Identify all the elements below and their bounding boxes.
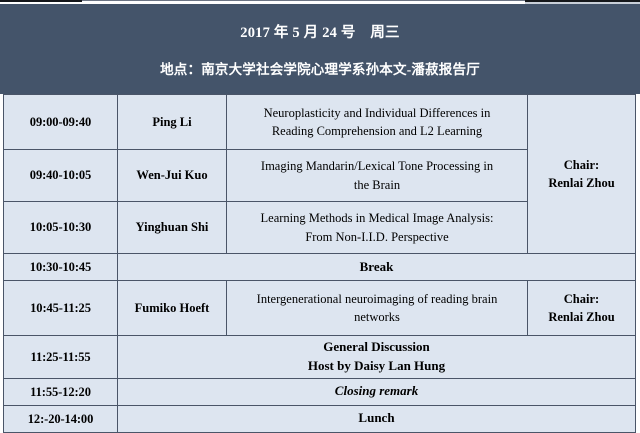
schedule-table: 09:00-09:40 Ping Li Neuroplasticity and … xyxy=(3,94,636,433)
row-chair: Chair: Renlai Zhou xyxy=(528,281,636,336)
row-title: Learning Methods in Medical Image Analys… xyxy=(227,202,528,254)
row-title-line2: the Brain xyxy=(230,176,524,194)
row-chair: Chair: Renlai Zhou xyxy=(528,95,636,254)
row-title-line1: Intergenerational neuroimaging of readin… xyxy=(230,290,524,308)
row-time: 09:40-10:05 xyxy=(4,150,118,202)
row-title: Imaging Mandarin/Lexical Tone Processing… xyxy=(227,150,528,202)
row-title-line1: Neuroplasticity and Individual Differenc… xyxy=(230,104,524,122)
row-title-line1: Learning Methods in Medical Image Analys… xyxy=(230,209,524,227)
chair-name: Renlai Zhou xyxy=(531,174,632,192)
table-row: 11:55-12:20 Closing remark xyxy=(4,378,636,405)
row-span-label: Break xyxy=(118,254,636,281)
row-span-label: General Discussion Host by Daisy Lan Hun… xyxy=(118,336,636,379)
row-speaker: Fumiko Hoeft xyxy=(118,281,227,336)
row-time: 11:55-12:20 xyxy=(4,378,118,405)
row-time: 10:45-11:25 xyxy=(4,281,118,336)
table-row: 11:25-11:55 General Discussion Host by D… xyxy=(4,336,636,379)
schedule-venue: 地点：南京大学社会学院心理学系孙本文-潘菽报告厅 xyxy=(160,58,480,78)
row-speaker: Wen-Jui Kuo xyxy=(118,150,227,202)
row-span-label: Closing remark xyxy=(118,378,636,405)
row-title: Neuroplasticity and Individual Differenc… xyxy=(227,95,528,150)
row-time: 10:05-10:30 xyxy=(4,202,118,254)
row-speaker: Ping Li xyxy=(118,95,227,150)
table-row: 10:45-11:25 Fumiko Hoeft Intergeneration… xyxy=(4,281,636,336)
row-time: 12:-20-14:00 xyxy=(4,405,118,432)
row-title-line2: From Non-I.I.D. Perspective xyxy=(230,228,524,246)
row-span-line1: General Discussion xyxy=(121,338,632,357)
row-span-line2: Host by Daisy Lan Hung xyxy=(121,357,632,376)
schedule-header-banner: 2017 年 5 月 24 号 周三 地点：南京大学社会学院心理学系孙本文-潘菽… xyxy=(0,4,640,94)
chair-name: Renlai Zhou xyxy=(531,308,632,326)
row-time: 11:25-11:55 xyxy=(4,336,118,379)
row-title-line2: networks xyxy=(230,308,524,326)
row-speaker: Yinghuan Shi xyxy=(118,202,227,254)
schedule-table-wrapper: 09:00-09:40 Ping Li Neuroplasticity and … xyxy=(3,94,635,433)
schedule-date: 2017 年 5 月 24 号 周三 xyxy=(240,21,399,42)
schedule-page: 2017 年 5 月 24 号 周三 地点：南京大学社会学院心理学系孙本文-潘菽… xyxy=(0,0,640,404)
row-span-label: Lunch xyxy=(118,405,636,432)
edge-segment-middle xyxy=(82,0,525,1)
table-row: 12:-20-14:00 Lunch xyxy=(4,405,636,432)
chair-label: Chair: xyxy=(531,156,632,174)
row-time: 09:00-09:40 xyxy=(4,95,118,150)
table-row: 09:00-09:40 Ping Li Neuroplasticity and … xyxy=(4,95,636,150)
table-row: 10:30-10:45 Break xyxy=(4,254,636,281)
row-title-line2: Reading Comprehension and L2 Learning xyxy=(230,122,524,140)
edge-segment-left xyxy=(0,0,82,2)
row-title: Intergenerational neuroimaging of readin… xyxy=(227,281,528,336)
row-title-line1: Imaging Mandarin/Lexical Tone Processing… xyxy=(230,157,524,175)
row-time: 10:30-10:45 xyxy=(4,254,118,281)
chair-label: Chair: xyxy=(531,290,632,308)
